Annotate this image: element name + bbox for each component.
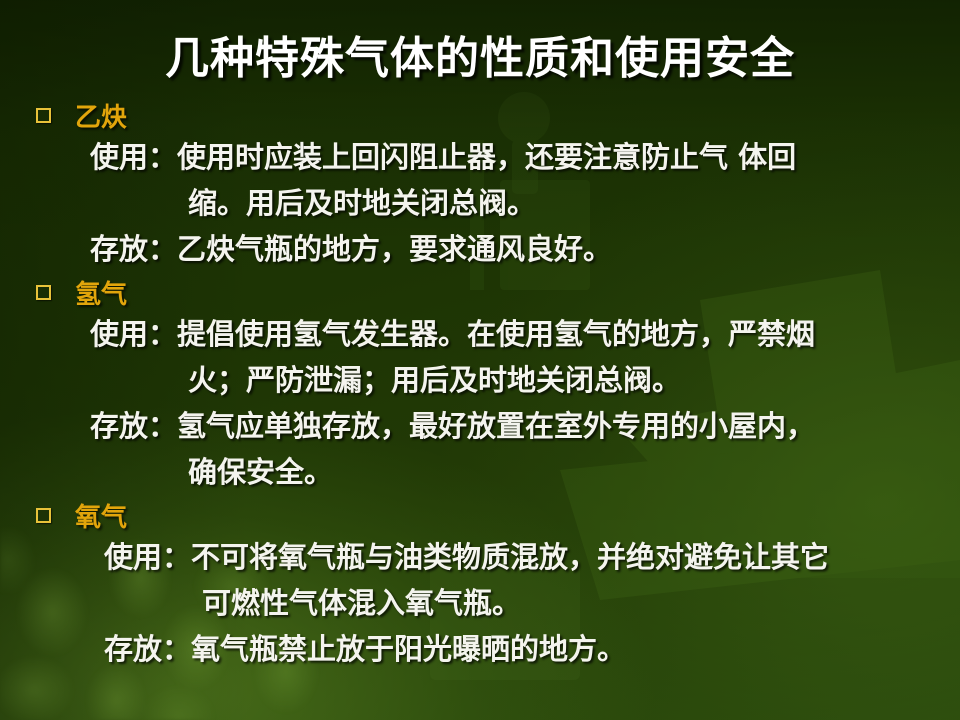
row-text: 使用时应装上回闪阻止器，还要注意防止气 体回 [177, 134, 796, 180]
section-heading-row[interactable]: 乙炔 [0, 96, 960, 134]
row-key: 使用： [90, 134, 177, 180]
slide-title: 几种特殊气体的性质和使用安全 [0, 22, 960, 86]
section-hydrogen: 氢气 使用： 提倡使用氢气发生器。在使用氢气的地方，严禁烟 火；严防泄漏；用后及… [0, 273, 960, 495]
hollow-square-bullet-icon [36, 285, 51, 300]
body-row: 存放： 乙炔气瓶的地方，要求通风良好。 [90, 226, 960, 272]
hollow-square-bullet-icon [36, 108, 51, 123]
section-oxygen: 氧气 使用： 不可将氧气瓶与油类物质混放，并绝对避免让其它 可燃性气体混入氧气瓶… [0, 496, 960, 672]
row-key: 使用： [90, 311, 177, 357]
body-row: 确保安全。 [90, 449, 960, 495]
row-text: 氧气瓶禁止放于阳光曝晒的地方。 [191, 626, 626, 672]
row-key: 存放： [90, 226, 177, 272]
section-body: 使用： 使用时应装上回闪阻止器，还要注意防止气 体回 缩。用后及时地关闭总阀。 … [0, 134, 960, 272]
section-heading-label: 氢气 [75, 274, 127, 311]
row-text: 火；严防泄漏；用后及时地关闭总阀。 [188, 357, 681, 403]
section-heading-row[interactable]: 氧气 [0, 496, 960, 534]
body-row: 使用： 使用时应装上回闪阻止器，还要注意防止气 体回 [90, 134, 960, 180]
body-row: 缩。用后及时地关闭总阀。 [90, 180, 960, 226]
row-text: 缩。用后及时地关闭总阀。 [188, 180, 536, 226]
body-row: 存放： 氧气瓶禁止放于阳光曝晒的地方。 [104, 626, 960, 672]
body-row: 可燃性气体混入氧气瓶。 [104, 580, 960, 626]
body-row: 使用： 不可将氧气瓶与油类物质混放，并绝对避免让其它 [104, 534, 960, 580]
hollow-square-bullet-icon [36, 508, 51, 523]
section-body: 使用： 提倡使用氢气发生器。在使用氢气的地方，严禁烟 火；严防泄漏；用后及时地关… [0, 311, 960, 495]
row-text: 氢气应单独存放，最好放置在室外专用的小屋内， [177, 403, 815, 449]
body-row: 使用： 提倡使用氢气发生器。在使用氢气的地方，严禁烟 [90, 311, 960, 357]
row-key: 存放： [104, 626, 191, 672]
presentation-slide: 几种特殊气体的性质和使用安全 乙炔 使用： 使用时应装上回闪阻止器，还要注意防止… [0, 0, 960, 720]
row-text: 提倡使用氢气发生器。在使用氢气的地方，严禁烟 [177, 311, 815, 357]
row-key: 存放： [90, 403, 177, 449]
sections-list: 乙炔 使用： 使用时应装上回闪阻止器，还要注意防止气 体回 缩。用后及时地关闭总… [0, 96, 960, 673]
body-row: 火；严防泄漏；用后及时地关闭总阀。 [90, 357, 960, 403]
section-acetylene: 乙炔 使用： 使用时应装上回闪阻止器，还要注意防止气 体回 缩。用后及时地关闭总… [0, 96, 960, 272]
row-text: 乙炔气瓶的地方，要求通风良好。 [177, 226, 612, 272]
section-body: 使用： 不可将氧气瓶与油类物质混放，并绝对避免让其它 可燃性气体混入氧气瓶。 存… [0, 534, 960, 672]
section-heading-label: 氧气 [75, 497, 127, 534]
row-text: 不可将氧气瓶与油类物质混放，并绝对避免让其它 [191, 534, 829, 580]
row-key: 使用： [104, 534, 191, 580]
row-text: 确保安全。 [188, 449, 333, 495]
row-text: 可燃性气体混入氧气瓶。 [202, 580, 521, 626]
body-row: 存放： 氢气应单独存放，最好放置在室外专用的小屋内， [90, 403, 960, 449]
section-heading-row[interactable]: 氢气 [0, 273, 960, 311]
section-heading-label: 乙炔 [75, 97, 127, 134]
